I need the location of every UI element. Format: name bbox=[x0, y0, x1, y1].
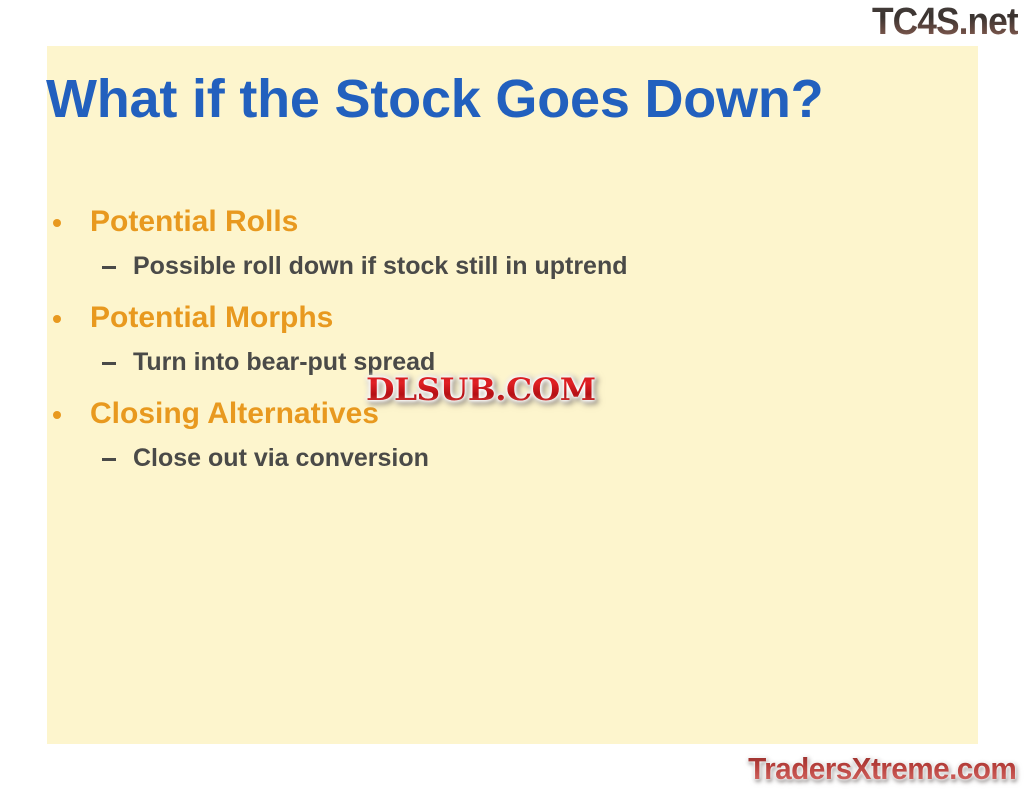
bullet-dash-icon bbox=[102, 458, 116, 461]
bullet-label: Closing Alternatives bbox=[90, 397, 379, 430]
dlsub-overlay-watermark: DLSUB.COM bbox=[366, 372, 596, 408]
bullet-label: Potential Rolls bbox=[90, 205, 298, 238]
bullet-item-potential-morphs: Potential Morphs bbox=[40, 300, 900, 336]
bullet-dot-icon bbox=[53, 315, 61, 323]
slide-title: What if the Stock Goes Down? bbox=[46, 68, 906, 130]
sub-bullet-item-close-out-conversion: Close out via conversion bbox=[40, 443, 900, 474]
bullet-label: Potential Morphs bbox=[90, 301, 333, 334]
sub-bullet-label: Possible roll down if stock still in upt… bbox=[133, 252, 628, 280]
bullet-dot-icon bbox=[53, 411, 61, 419]
tc4s-logo: TC4S.net bbox=[872, 1, 1018, 43]
sub-bullet-label: Close out via conversion bbox=[133, 444, 429, 472]
sub-bullet-item-possible-roll-down: Possible roll down if stock still in upt… bbox=[40, 251, 900, 282]
tradersxtreme-watermark: TradersXtreme.com bbox=[748, 751, 1016, 787]
bullet-dash-icon bbox=[102, 266, 116, 269]
bullet-item-potential-rolls: Potential Rolls bbox=[40, 204, 900, 240]
presentation-slide: What if the Stock Goes Down? Potential R… bbox=[0, 0, 1024, 791]
bullet-dot-icon bbox=[53, 219, 61, 227]
bullet-list: Potential Rolls Possible roll down if st… bbox=[40, 204, 900, 492]
bullet-dash-icon bbox=[102, 362, 116, 365]
